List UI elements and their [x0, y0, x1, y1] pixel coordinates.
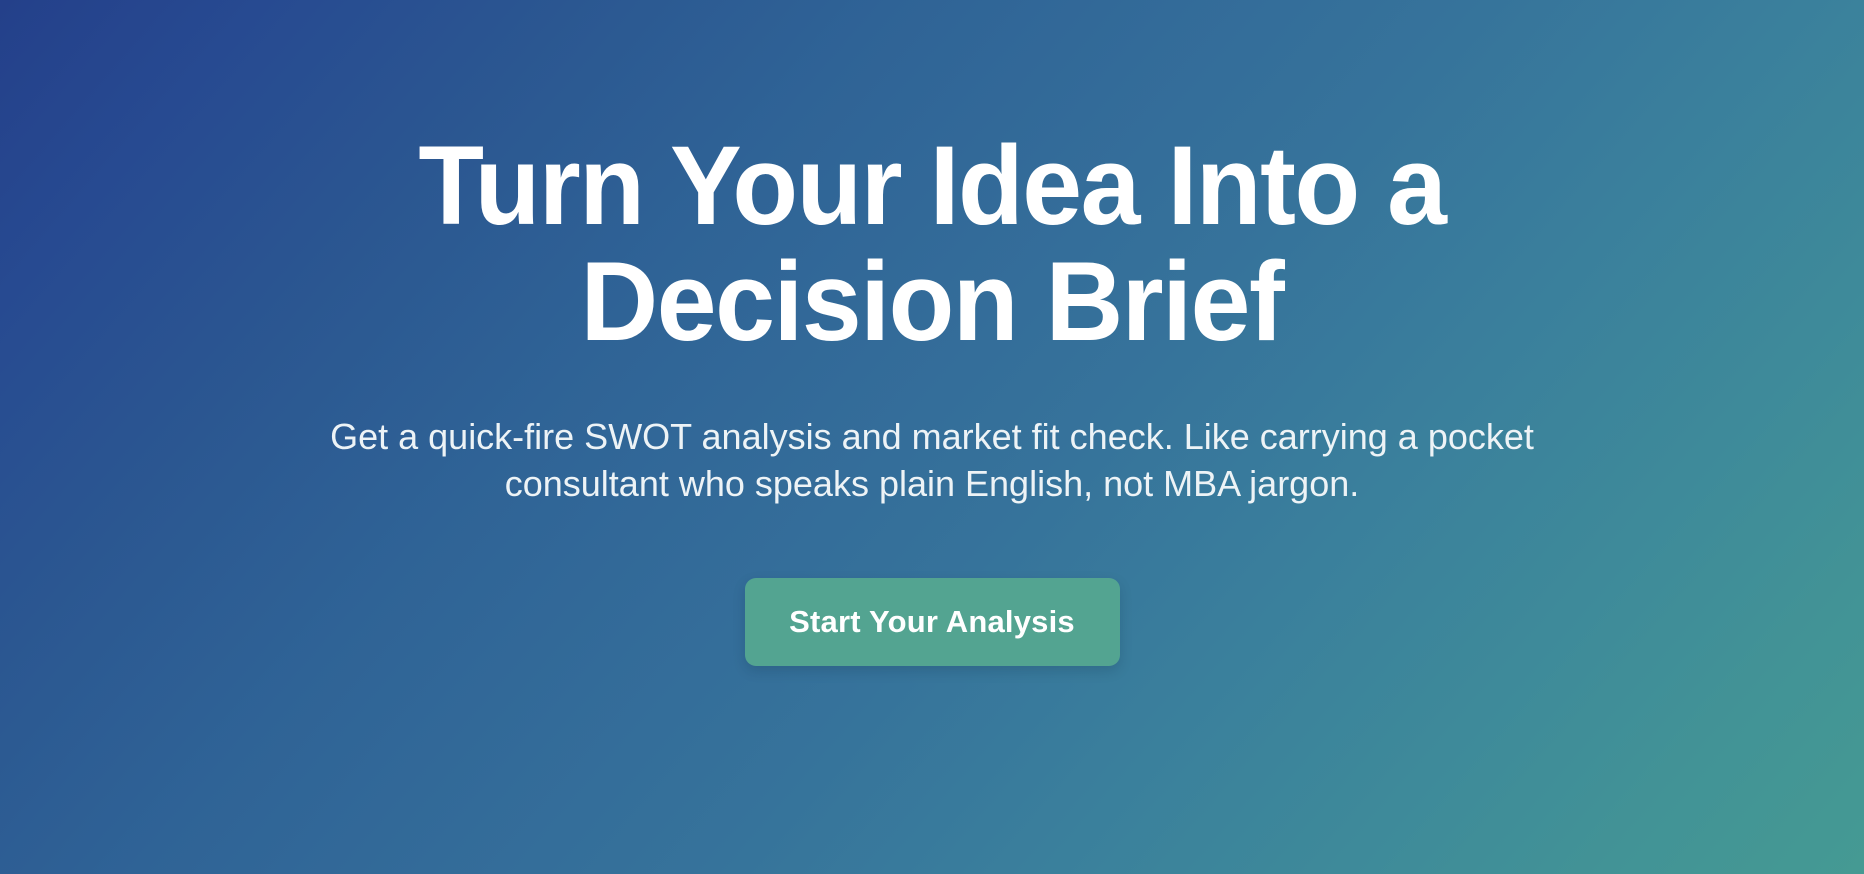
hero-content: Turn Your Idea Into a Decision Brief Get…	[217, 0, 1647, 666]
hero-section: Turn Your Idea Into a Decision Brief Get…	[0, 0, 1864, 874]
page-title: Turn Your Idea Into a Decision Brief	[418, 128, 1445, 361]
start-analysis-button[interactable]: Start Your Analysis	[745, 578, 1120, 666]
hero-subtitle: Get a quick-fire SWOT analysis and marke…	[267, 361, 1597, 508]
headline-line-2: Decision Brief	[418, 244, 1445, 360]
cta-container: Start Your Analysis	[217, 508, 1647, 666]
headline-line-1: Turn Your Idea Into a	[418, 128, 1445, 244]
